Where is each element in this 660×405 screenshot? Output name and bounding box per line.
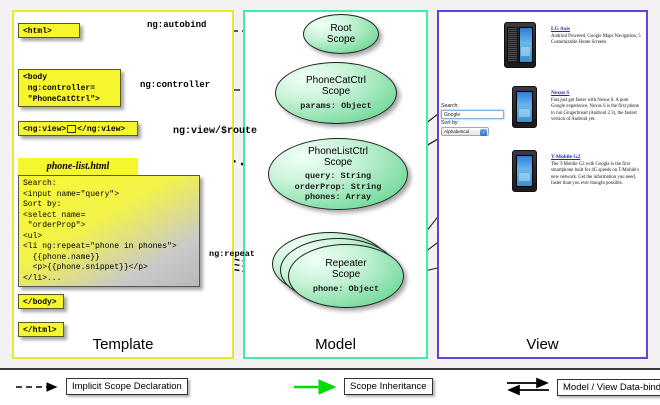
legend-arrow-double-icon [505,378,557,396]
scope-root-title: Root Scope [327,23,355,45]
ngview-placeholder-icon [67,125,76,133]
phone-thumbnail-slider [506,22,533,68]
phone-name-link[interactable]: T-Mobile G2 [551,154,643,160]
chevron-updown-icon: ↕ [480,129,487,136]
column-label-model: Model [245,336,426,353]
phone-text-block: LG Axis Android Powered, Google Maps Nav… [551,26,643,47]
architecture-diagram: Template <html> <body ng:controller= "Ph… [0,0,660,368]
column-label-view: View [439,336,646,353]
scope-phonecatctrl: PhoneCatCtrl Scope params: Object [275,62,397,124]
search-input[interactable]: Google [441,110,504,119]
scope-repeater: Repeater Scope phone: Object [288,244,404,308]
legend-label-inheritance: Scope Inheritance [344,378,433,395]
phone-screen-icon [519,27,533,63]
phone-keyboard-icon [507,27,518,63]
connector-label-autobind: ng:autobind [147,20,206,30]
legend-item-inheritance: Scope Inheritance [292,378,433,395]
phone-snippet: Fast just got faster with Nexus S. A pur… [551,98,643,123]
phone-body-icon [512,150,537,192]
search-label: Search: [441,103,507,110]
scope-repeater-props: phone: Object [313,284,379,294]
scope-root: Root Scope [303,14,379,54]
template-note-phone-list: phone-list.html Search: <input name="que… [18,158,200,287]
phone-snippet: The T-Mobile G2 with Google is the first… [551,162,643,187]
phone-thumbnail-bar [511,86,538,128]
ngview-close-tag: </ng:view> [77,125,125,134]
code-box-ngview: <ng:view></ng:view> [18,121,138,136]
scope-phonelistctrl: PhoneListCtrl Scope query: String orderP… [268,138,408,210]
connector-label-ngrepeat: ng:repeat [209,249,255,259]
phone-body-icon [504,22,536,68]
code-box-body-open: <body ng:controller= "PhoneCatCtrl"> [18,69,121,107]
sort-select-value: Alphabetical [444,129,469,134]
legend-label-databinding: Model / View Data-binding [557,379,660,396]
scope-phonelistctrl-props: query: String orderProp: String phones: … [295,171,382,202]
legend-label-implicit: Implicit Scope Declaration [66,378,188,395]
phone-body-icon [512,86,537,128]
code-box-html-open: <html> [18,23,80,38]
column-label-template: Template [14,336,232,353]
scope-phonelistctrl-title: PhoneListCtrl Scope [308,146,368,168]
phone-screen-icon [516,155,533,187]
note-code: Search: <input name="query"> Sort by: <s… [18,175,200,287]
phone-text-block: T-Mobile G2 The T-Mobile G2 with Google … [551,154,643,187]
code-box-html-close: </html> [18,322,64,337]
sort-label: Sort by: [441,120,507,127]
scope-phonecatctrl-props: params: Object [300,101,371,111]
connector-label-controller: ng:controller [140,80,210,90]
ngview-open-tag: <ng:view> [23,125,66,134]
diagram-canvas: Template <html> <body ng:controller= "Ph… [0,0,660,405]
view-search-form: Search: Google Sort by: Alphabetical ↕ [441,103,507,136]
phone-name-link[interactable]: LG Axis [551,26,643,32]
legend-item-implicit: Implicit Scope Declaration [14,378,188,395]
legend-arrow-green-icon [292,380,344,394]
view-rendered-app: Search: Google Sort by: Alphabetical ↕ [441,14,644,334]
note-title: phone-list.html [18,158,138,175]
legend: Implicit Scope Declaration Scope Inherit… [0,368,660,405]
connector-label-ngview: ng:view/$route [173,126,257,137]
sort-select[interactable]: Alphabetical ↕ [441,127,489,136]
legend-item-databinding: Model / View Data-binding [505,378,660,396]
scope-repeater-title: Repeater Scope [325,258,366,280]
phone-name-link[interactable]: Nexus S [551,90,643,96]
scope-phonecatctrl-title: PhoneCatCtrl Scope [306,75,366,97]
phone-snippet: Android Powered, Google Maps Navigation,… [551,34,643,47]
code-box-body-close: </body> [18,294,64,309]
phone-thumbnail-bar [511,150,538,192]
phone-text-block: Nexus S Fast just got faster with Nexus … [551,90,643,123]
legend-arrow-dashed-icon [14,380,66,394]
phone-screen-icon [516,91,533,123]
